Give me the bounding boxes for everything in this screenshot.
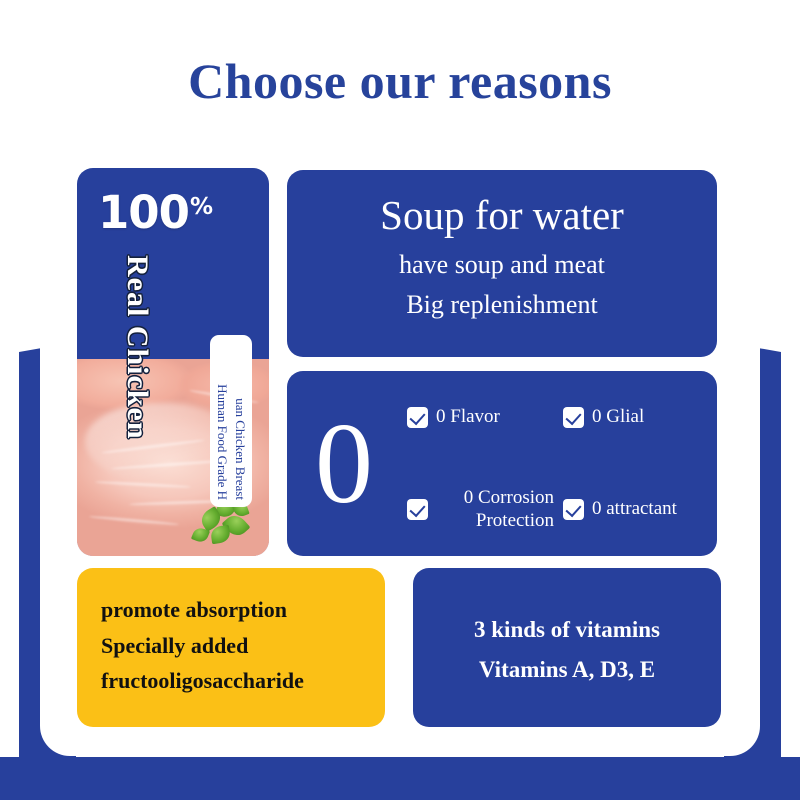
vitamins-line-2: Vitamins A, D3, E — [413, 650, 721, 690]
infographic-root: Choose our reasons 100% Real Chicken — [0, 0, 800, 800]
prebiotic-line-1: promote absorption — [101, 592, 385, 628]
zero-claim-attractant: 0 attractant — [561, 498, 717, 521]
vitamins-line-1: 3 kinds of vitamins — [413, 610, 721, 650]
real-chicken-panel: 100% Real Chicken uan Chicken Breast Hum… — [77, 168, 269, 556]
page-title: Choose our reasons — [0, 52, 800, 110]
zero-claim-corrosion-protection: 0 Corrosion Protection — [405, 487, 561, 533]
checkbox-checked-icon — [563, 407, 584, 428]
soup-line-2: Big replenishment — [287, 285, 717, 325]
percent-sign: % — [190, 194, 213, 220]
prebiotic-line-2: Specially added — [101, 628, 385, 664]
checkbox-checked-icon — [407, 499, 428, 520]
zero-claims-grid: 0 Flavor 0 Glial 0 Corrosion Protection … — [405, 371, 717, 556]
certification-label: uan Chicken Breast Human Food Grade H — [210, 335, 252, 507]
zero-claim-label: 0 Glial — [592, 406, 644, 429]
soup-heading: Soup for water — [287, 192, 717, 239]
certification-line-1: uan Chicken Breast — [231, 398, 249, 500]
big-zero-number: 0 — [315, 406, 373, 522]
percent-badge: 100% — [98, 190, 213, 235]
certification-line-2: Human Food Grade H — [213, 384, 231, 500]
zero-claim-glial: 0 Glial — [561, 406, 717, 429]
zero-claim-label: 0 Corrosion Protection — [436, 487, 554, 533]
zero-claim-label: 0 attractant — [592, 498, 677, 521]
zero-additives-panel: 0 0 Flavor 0 Glial 0 Corrosion Protectio… — [287, 371, 717, 556]
percent-number: 100 — [98, 186, 189, 239]
checkbox-checked-icon — [407, 407, 428, 428]
real-chicken-vertical-label: Real Chicken — [120, 255, 154, 485]
vitamins-panel: 3 kinds of vitamins Vitamins A, D3, E — [413, 568, 721, 727]
checkbox-checked-icon — [563, 499, 584, 520]
zero-claim-label: 0 Flavor — [436, 406, 500, 429]
soup-line-1: have soup and meat — [287, 245, 717, 285]
prebiotic-line-3: fructooligosaccharide — [101, 663, 385, 699]
zero-claim-flavor: 0 Flavor — [405, 406, 561, 429]
soup-for-water-panel: Soup for water have soup and meat Big re… — [287, 170, 717, 357]
prebiotic-panel: promote absorption Specially added fruct… — [77, 568, 385, 727]
